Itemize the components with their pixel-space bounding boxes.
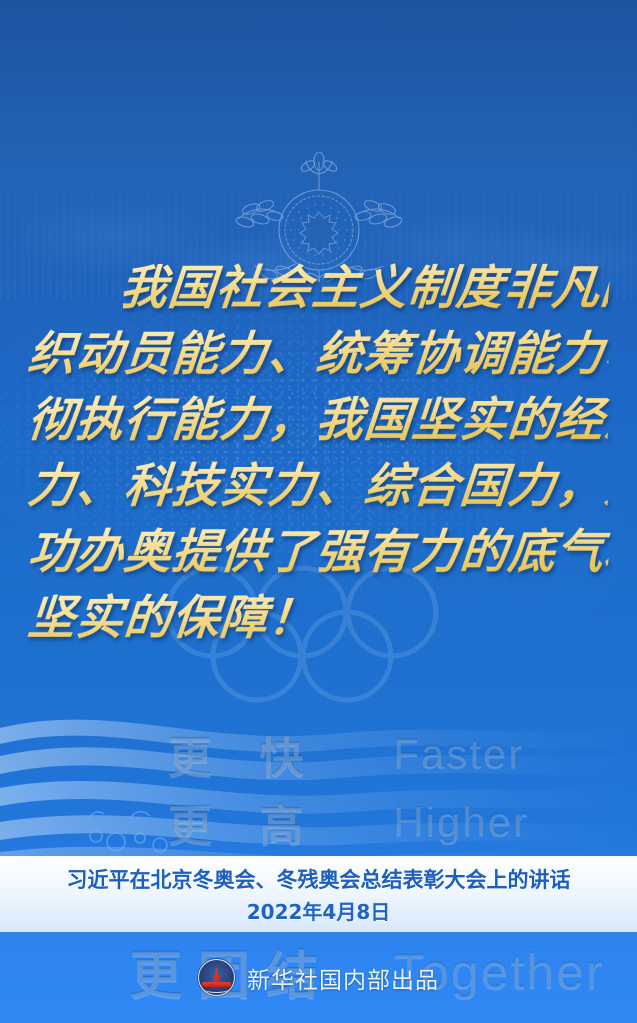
quote-line-4: 力、科技实力、综合国力，为成 bbox=[25, 454, 612, 520]
caption-band: 习近平在北京冬奥会、冬残奥会总结表彰大会上的讲话 2022年4月8日 bbox=[0, 856, 637, 932]
quote-line-6: 坚实的保障！ bbox=[25, 586, 612, 652]
xinhua-logo-icon bbox=[198, 959, 235, 996]
quote-line-3: 彻执行能力，我国坚实的经济实 bbox=[25, 388, 612, 454]
quote-line-5: 功办奥提供了强有力的底气和最 bbox=[25, 520, 612, 586]
xinhua-arc-glyph bbox=[204, 985, 229, 993]
caption-date: 2022年4月8日 bbox=[247, 896, 391, 925]
footer-bar: 新华社国内部出品 bbox=[0, 932, 637, 1023]
quote-line-2: 织动员能力、统筹协调能力、贯 bbox=[25, 322, 612, 388]
poster-root: 更 快 Faster 更 高 Higher 更 强 Stronger 更团结 T… bbox=[0, 0, 637, 1023]
footer-credit-text: 新华社国内部出品 bbox=[247, 961, 439, 995]
quote-line-1: 我国社会主义制度非凡的组 bbox=[25, 256, 612, 322]
quote-block: 我国社会主义制度非凡的组 织动员能力、统筹协调能力、贯 彻执行能力，我国坚实的经… bbox=[0, 256, 637, 652]
caption-title: 习近平在北京冬奥会、冬残奥会总结表彰大会上的讲话 bbox=[67, 864, 571, 894]
